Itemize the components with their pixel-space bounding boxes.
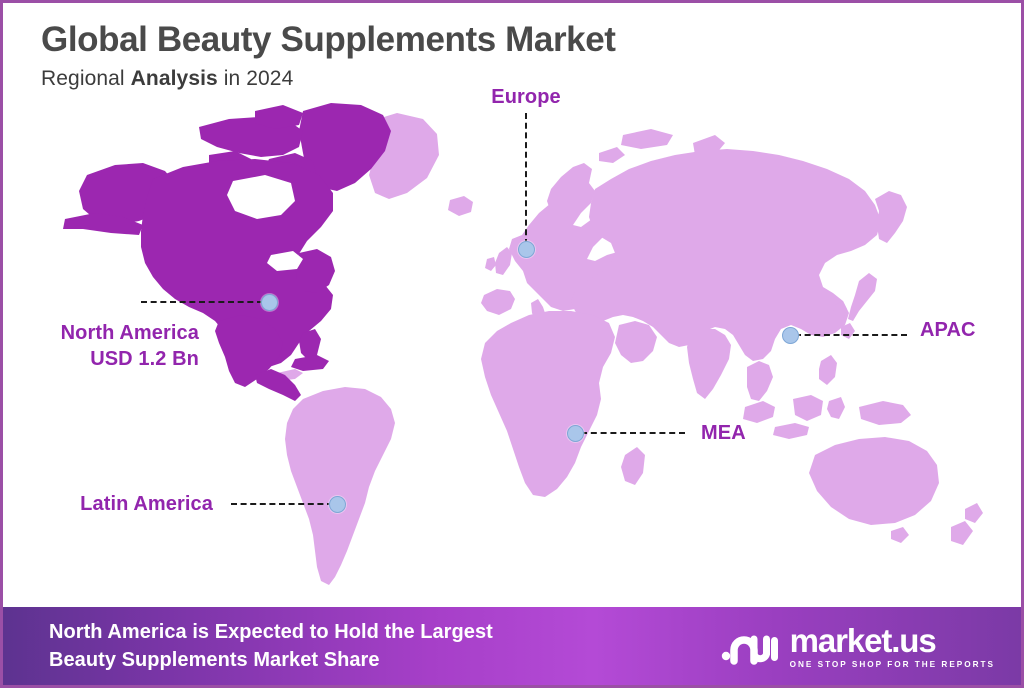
iceland bbox=[448, 196, 473, 216]
south-america bbox=[285, 387, 395, 585]
india bbox=[687, 329, 731, 399]
region-label-latin-america: Latin America bbox=[80, 492, 213, 518]
new-zealand-north bbox=[965, 503, 983, 523]
bottom-banner: North America is Expected to Hold the La… bbox=[3, 607, 1021, 685]
africa bbox=[481, 311, 615, 497]
australia bbox=[809, 437, 939, 525]
region-label-europe: Europe bbox=[491, 85, 561, 111]
philippines bbox=[819, 355, 837, 385]
java bbox=[773, 423, 809, 439]
map-base-regions bbox=[277, 113, 983, 585]
svalbard bbox=[599, 147, 625, 163]
indochina bbox=[747, 361, 773, 401]
new-guinea bbox=[859, 401, 911, 425]
banner-headline-line1: North America is Expected to Hold the La… bbox=[49, 618, 493, 646]
region-name-mea: MEA bbox=[701, 422, 746, 444]
marker-north-america[interactable] bbox=[261, 294, 278, 311]
logo-tagline: ONE STOP SHOP FOR THE REPORTS bbox=[790, 660, 995, 669]
borneo bbox=[793, 395, 823, 421]
marker-apac[interactable] bbox=[782, 327, 799, 344]
region-label-mea: MEA bbox=[701, 421, 746, 447]
arabia bbox=[615, 321, 657, 363]
region-value-north-america: USD 1.2 Bn bbox=[61, 347, 199, 373]
region-name-apac: APAC bbox=[920, 319, 976, 341]
banner-headline-line2: Beauty Supplements Market Share bbox=[49, 646, 493, 674]
leader-line-europe bbox=[525, 113, 527, 245]
sulawesi bbox=[827, 397, 845, 419]
leader-line-mea bbox=[581, 432, 685, 434]
ireland bbox=[485, 257, 496, 271]
leader-line-latin-america bbox=[231, 503, 333, 505]
region-name-latin-america: Latin America bbox=[80, 493, 213, 515]
banner-headline: North America is Expected to Hold the La… bbox=[49, 618, 493, 675]
arctic-islands bbox=[621, 129, 673, 149]
region-label-apac: APAC bbox=[920, 318, 976, 344]
logo-wordmark: market.us bbox=[790, 624, 995, 657]
market-us-logo[interactable]: market.us ONE STOP SHOP FOR THE REPORTS bbox=[721, 624, 995, 669]
marker-europe[interactable] bbox=[518, 241, 535, 258]
marker-latin-america[interactable] bbox=[329, 496, 346, 513]
leader-line-apac bbox=[795, 334, 907, 336]
asia-landmass bbox=[571, 149, 881, 361]
iberia bbox=[481, 289, 515, 315]
region-name-north-america: North America bbox=[61, 322, 199, 344]
cuba bbox=[291, 355, 329, 371]
leader-line-north-america bbox=[141, 301, 263, 303]
infographic-root: Global Beauty Supplements Market Regiona… bbox=[0, 0, 1024, 688]
madagascar bbox=[621, 447, 645, 485]
region-label-north-america: North America USD 1.2 Bn bbox=[61, 321, 199, 372]
market-us-logo-text: market.us ONE STOP SHOP FOR THE REPORTS bbox=[790, 624, 995, 669]
kamchatka bbox=[875, 191, 907, 243]
market-us-logo-mark bbox=[721, 625, 779, 667]
sumatra bbox=[743, 401, 775, 423]
tasmania bbox=[891, 527, 909, 543]
region-name-europe: Europe bbox=[491, 86, 561, 108]
marker-mea[interactable] bbox=[567, 425, 584, 442]
new-zealand-south bbox=[951, 521, 973, 545]
great-britain bbox=[495, 247, 512, 275]
japan bbox=[848, 273, 877, 321]
